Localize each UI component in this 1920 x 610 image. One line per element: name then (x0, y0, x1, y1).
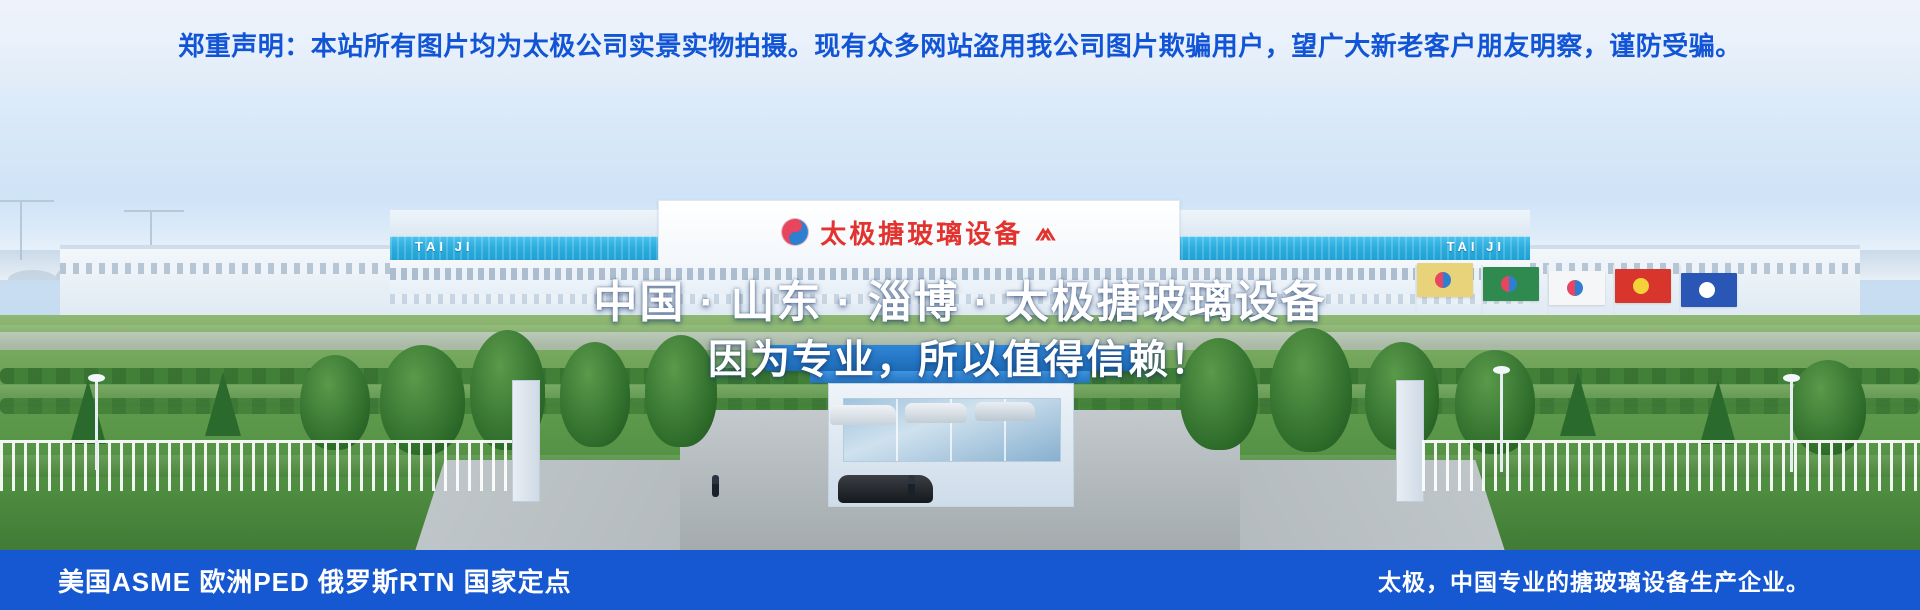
tree (300, 355, 370, 450)
notice-banner: 郑重声明：本站所有图片均为太极公司实景实物拍摄。现有众多网站盗用我公司图片欺骗用… (0, 0, 1920, 92)
company-sign-text: 太极搪玻璃设备 (820, 214, 1023, 251)
person (712, 475, 719, 497)
gate-pillar (512, 380, 540, 502)
black-car (838, 475, 933, 503)
tree (645, 335, 717, 447)
flag-blue (1681, 273, 1737, 307)
flag-green (1483, 267, 1539, 301)
flag-emblem-icon (1633, 278, 1649, 294)
gate-pillar (1396, 380, 1424, 502)
left-wing-building (60, 245, 390, 319)
notice-text: 郑重声明：本站所有图片均为太极公司实景实物拍摄。现有众多网站盗用我公司图片欺骗用… (178, 33, 1742, 59)
window-row-lower (390, 294, 1530, 304)
facade-label-right: TAI JI (1447, 239, 1505, 254)
main-factory-building: TAI JI TAI JI 太极搪玻璃设备 ⩕ (390, 210, 1530, 320)
tree (1180, 338, 1258, 450)
flag-emblem-icon (1435, 272, 1451, 288)
company-sign-mark: ⩕ (1035, 216, 1056, 248)
gatehouse-roof-lower (810, 371, 1090, 383)
wing-windows (60, 263, 390, 274)
parked-car (975, 402, 1035, 421)
bottom-certification-bar: 美国ASME 欧洲PED 俄罗斯RTN 国家定点 太极，中国专业的搪玻璃设备生产… (0, 550, 1920, 610)
hero-photo: TAI JI TAI JI 太极搪玻璃设备 ⩕ (0, 80, 1920, 550)
lamp-post (95, 380, 98, 470)
window-mullion (896, 399, 898, 461)
parked-car (830, 405, 896, 425)
flag-emblem-icon (1501, 276, 1517, 292)
tree (1270, 328, 1352, 452)
tree (560, 342, 630, 447)
tree (380, 345, 465, 455)
perimeter-fence (1422, 440, 1920, 491)
window-row-upper (390, 268, 1530, 280)
yin-yang-icon (782, 219, 808, 245)
perimeter-fence (0, 440, 512, 491)
page-root: 郑重声明：本站所有图片均为太极公司实景实物拍摄。现有众多网站盗用我公司图片欺骗用… (0, 0, 1920, 610)
flag-emblem-icon (1567, 280, 1583, 296)
flag-white (1549, 271, 1605, 305)
building-body (390, 260, 1530, 320)
flag-yellow (1417, 263, 1473, 297)
tree (1455, 350, 1535, 454)
flag-emblem-icon (1699, 282, 1715, 298)
tree (70, 380, 106, 444)
lamp-post (1500, 372, 1503, 472)
facade-label-left: TAI JI (415, 239, 473, 254)
tagline-text: 太极，中国专业的搪玻璃设备生产企业。 (1378, 563, 1810, 597)
tree (1700, 380, 1736, 444)
flag-red (1615, 269, 1671, 303)
company-sign-panel: 太极搪玻璃设备 ⩕ (658, 200, 1180, 264)
gatehouse-roof (765, 345, 1135, 371)
tree (205, 372, 241, 436)
certification-text: 美国ASME 欧洲PED 俄罗斯RTN 国家定点 (58, 562, 572, 599)
parked-car (905, 403, 967, 423)
lamp-post (1790, 380, 1793, 472)
tree (1560, 372, 1596, 436)
person (908, 475, 915, 497)
